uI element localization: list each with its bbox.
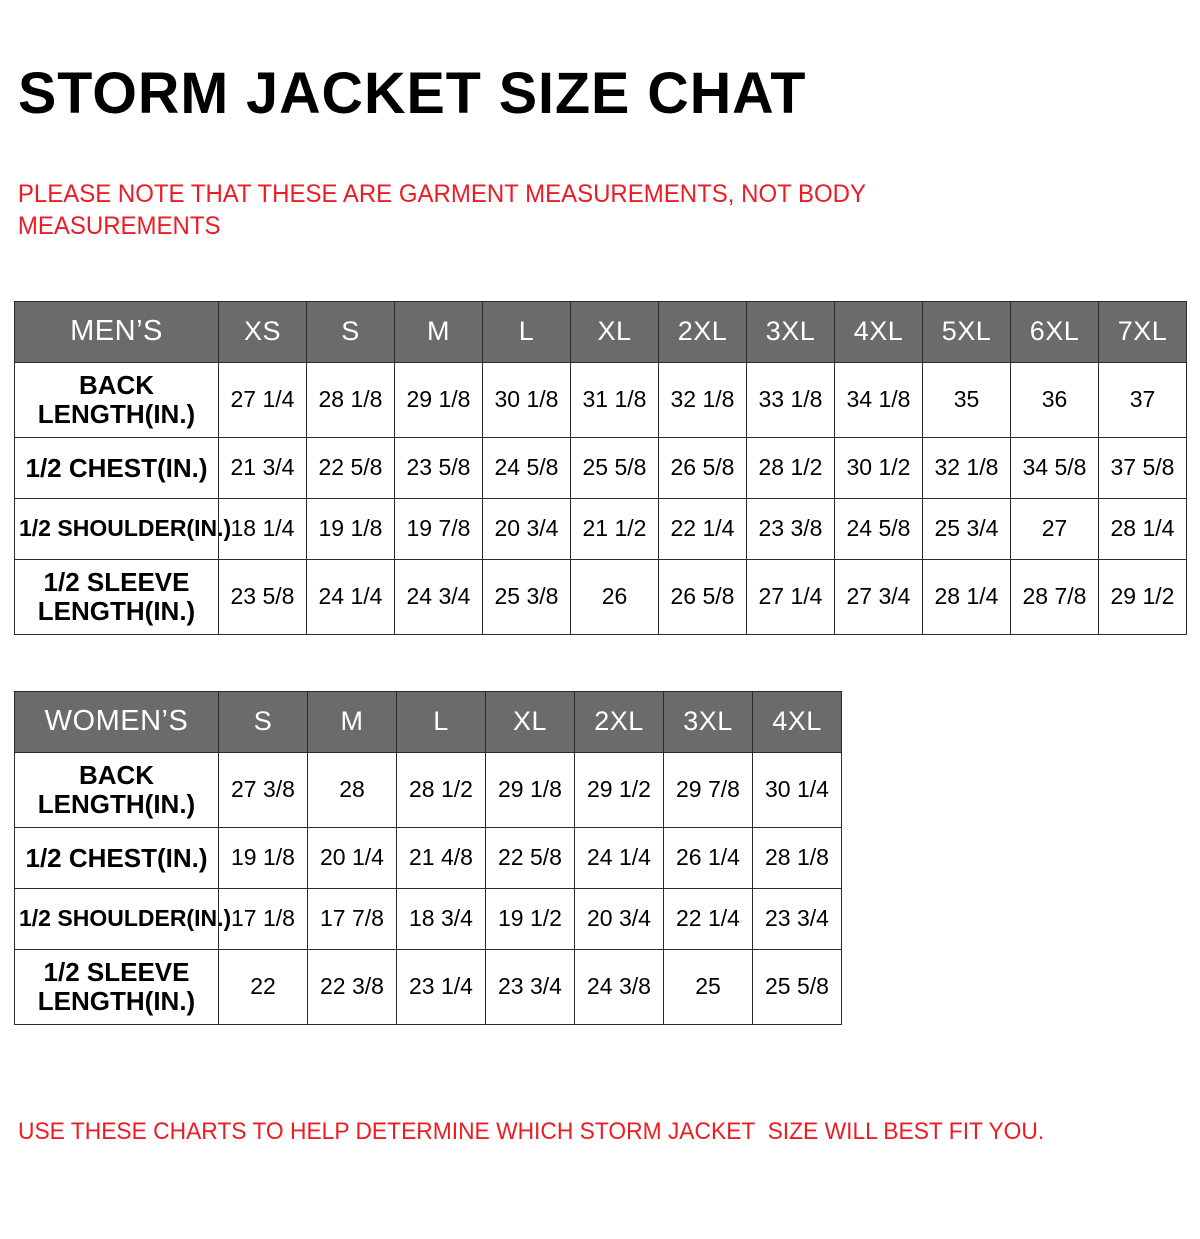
womens-back-length-3xl: 29 7/8 — [664, 752, 753, 827]
womens-size-header-m: M — [308, 691, 397, 752]
womens-sleeve-4xl: 25 5/8 — [753, 949, 842, 1024]
label-line-2: LENGTH(IN.) — [38, 986, 195, 1016]
mens-shoulder-3xl: 23 3/8 — [747, 498, 835, 559]
mens-size-header-2xl: 2XL — [659, 301, 747, 362]
womens-sleeve-m: 22 3/8 — [308, 949, 397, 1024]
womens-back-length-l: 28 1/2 — [397, 752, 486, 827]
mens-sleeve-xl: 26 — [571, 559, 659, 634]
womens-table-head: WOMEN’S S M L XL 2XL 3XL 4XL — [15, 691, 842, 752]
mens-sleeve-m: 24 3/4 — [395, 559, 483, 634]
mens-shoulder-s: 19 1/8 — [307, 498, 395, 559]
womens-back-length-2xl: 29 1/2 — [575, 752, 664, 827]
mens-chest-xl: 25 5/8 — [571, 437, 659, 498]
mens-back-length-xs: 27 1/4 — [219, 362, 307, 437]
womens-back-length-4xl: 30 1/4 — [753, 752, 842, 827]
womens-header-row: WOMEN’S S M L XL 2XL 3XL 4XL — [15, 691, 842, 752]
womens-size-header-l: L — [397, 691, 486, 752]
mens-sleeve-5xl: 28 1/4 — [923, 559, 1011, 634]
mens-size-header-6xl: 6XL — [1011, 301, 1099, 362]
mens-back-length-s: 28 1/8 — [307, 362, 395, 437]
mens-back-length-5xl: 35 — [923, 362, 1011, 437]
table-row: 1/2 SLEEVELENGTH(IN.) 23 5/8 24 1/4 24 3… — [15, 559, 1187, 634]
mens-chest-2xl: 26 5/8 — [659, 437, 747, 498]
mens-chest-6xl: 34 5/8 — [1011, 437, 1099, 498]
mens-table-head: MEN’S XS S M L XL 2XL 3XL 4XL 5XL 6XL 7X… — [15, 301, 1187, 362]
table-row: 1/2 SHOULDER(IN.) 18 1/4 19 1/8 19 7/8 2… — [15, 498, 1187, 559]
womens-shoulder-3xl: 22 1/4 — [664, 888, 753, 949]
mens-size-header-m: M — [395, 301, 483, 362]
womens-sleeve-2xl: 24 3/8 — [575, 949, 664, 1024]
womens-shoulder-l: 18 3/4 — [397, 888, 486, 949]
mens-shoulder-5xl: 25 3/4 — [923, 498, 1011, 559]
womens-chest-m: 20 1/4 — [308, 827, 397, 888]
label-line-1: 1/2 SLEEVE — [44, 957, 190, 987]
page-title: STORM JACKET SIZE CHAT — [14, 39, 1174, 123]
size-chart-page: STORM JACKET SIZE CHAT PLEASE NOTE THAT … — [0, 39, 1200, 1239]
mens-shoulder-xs: 18 1/4 — [219, 498, 307, 559]
womens-sleeve-3xl: 25 — [664, 949, 753, 1024]
mens-shoulder-2xl: 22 1/4 — [659, 498, 747, 559]
garment-measurement-note: PLEASE NOTE THAT THESE ARE GARMENT MEASU… — [14, 162, 939, 243]
mens-row-label-sleeve-length: 1/2 SLEEVELENGTH(IN.) — [15, 559, 219, 634]
womens-corner-header: WOMEN’S — [15, 691, 219, 752]
mens-size-header-3xl: 3XL — [747, 301, 835, 362]
womens-shoulder-m: 17 7/8 — [308, 888, 397, 949]
womens-sleeve-s: 22 — [219, 949, 308, 1024]
womens-shoulder-xl: 19 1/2 — [486, 888, 575, 949]
label-line-1: BACK — [79, 760, 154, 790]
table-row: BACKLENGTH(IN.) 27 3/8 28 28 1/2 29 1/8 … — [15, 752, 842, 827]
label-line-2: LENGTH(IN.) — [38, 596, 195, 626]
mens-sleeve-6xl: 28 7/8 — [1011, 559, 1099, 634]
mens-chest-s: 22 5/8 — [307, 437, 395, 498]
mens-back-length-2xl: 32 1/8 — [659, 362, 747, 437]
mens-back-length-l: 30 1/8 — [483, 362, 571, 437]
womens-size-header-2xl: 2XL — [575, 691, 664, 752]
mens-back-length-xl: 31 1/8 — [571, 362, 659, 437]
table-row: 1/2 CHEST(IN.) 19 1/8 20 1/4 21 4/8 22 5… — [15, 827, 842, 888]
mens-header-row: MEN’S XS S M L XL 2XL 3XL 4XL 5XL 6XL 7X… — [15, 301, 1187, 362]
mens-back-length-m: 29 1/8 — [395, 362, 483, 437]
mens-row-label-back-length: BACKLENGTH(IN.) — [15, 362, 219, 437]
mens-sleeve-s: 24 1/4 — [307, 559, 395, 634]
table-row: BACKLENGTH(IN.) 27 1/4 28 1/8 29 1/8 30 … — [15, 362, 1187, 437]
womens-row-label-sleeve-length: 1/2 SLEEVELENGTH(IN.) — [15, 949, 219, 1024]
mens-sleeve-2xl: 26 5/8 — [659, 559, 747, 634]
mens-row-label-shoulder: 1/2 SHOULDER(IN.) — [15, 498, 219, 559]
mens-chest-l: 24 5/8 — [483, 437, 571, 498]
mens-chest-3xl: 28 1/2 — [747, 437, 835, 498]
mens-back-length-6xl: 36 — [1011, 362, 1099, 437]
mens-sleeve-l: 25 3/8 — [483, 559, 571, 634]
womens-back-length-s: 27 3/8 — [219, 752, 308, 827]
mens-size-header-4xl: 4XL — [835, 301, 923, 362]
mens-shoulder-7xl: 28 1/4 — [1099, 498, 1187, 559]
mens-chest-xs: 21 3/4 — [219, 437, 307, 498]
mens-chest-4xl: 30 1/2 — [835, 437, 923, 498]
label-line-2: LENGTH(IN.) — [38, 399, 195, 429]
mens-shoulder-4xl: 24 5/8 — [835, 498, 923, 559]
mens-size-table: MEN’S XS S M L XL 2XL 3XL 4XL 5XL 6XL 7X… — [14, 301, 1187, 635]
womens-chest-l: 21 4/8 — [397, 827, 486, 888]
womens-back-length-xl: 29 1/8 — [486, 752, 575, 827]
womens-shoulder-s: 17 1/8 — [219, 888, 308, 949]
womens-size-header-s: S — [219, 691, 308, 752]
mens-shoulder-6xl: 27 — [1011, 498, 1099, 559]
mens-size-header-7xl: 7XL — [1099, 301, 1187, 362]
mens-size-header-xs: XS — [219, 301, 307, 362]
womens-back-length-m: 28 — [308, 752, 397, 827]
label-line-2: LENGTH(IN.) — [38, 789, 195, 819]
womens-size-header-4xl: 4XL — [753, 691, 842, 752]
fit-guidance-note: USE THESE CHARTS TO HELP DETERMINE WHICH… — [18, 1118, 1044, 1146]
womens-sleeve-l: 23 1/4 — [397, 949, 486, 1024]
mens-row-label-chest: 1/2 CHEST(IN.) — [15, 437, 219, 498]
mens-sleeve-7xl: 29 1/2 — [1099, 559, 1187, 634]
mens-sleeve-4xl: 27 3/4 — [835, 559, 923, 634]
mens-size-header-s: S — [307, 301, 395, 362]
mens-corner-header: MEN’S — [15, 301, 219, 362]
womens-table-body: BACKLENGTH(IN.) 27 3/8 28 28 1/2 29 1/8 … — [15, 752, 842, 1024]
label-line-1: BACK — [79, 370, 154, 400]
mens-chest-5xl: 32 1/8 — [923, 437, 1011, 498]
womens-chest-2xl: 24 1/4 — [575, 827, 664, 888]
womens-sleeve-xl: 23 3/4 — [486, 949, 575, 1024]
mens-sleeve-3xl: 27 1/4 — [747, 559, 835, 634]
womens-chest-xl: 22 5/8 — [486, 827, 575, 888]
womens-size-header-xl: XL — [486, 691, 575, 752]
mens-shoulder-m: 19 7/8 — [395, 498, 483, 559]
mens-size-header-5xl: 5XL — [923, 301, 1011, 362]
mens-table-body: BACKLENGTH(IN.) 27 1/4 28 1/8 29 1/8 30 … — [15, 362, 1187, 634]
womens-row-label-shoulder: 1/2 SHOULDER(IN.) — [15, 888, 219, 949]
womens-size-header-3xl: 3XL — [664, 691, 753, 752]
mens-size-header-l: L — [483, 301, 571, 362]
mens-chest-7xl: 37 5/8 — [1099, 437, 1187, 498]
mens-back-length-7xl: 37 — [1099, 362, 1187, 437]
womens-row-label-chest: 1/2 CHEST(IN.) — [15, 827, 219, 888]
womens-row-label-back-length: BACKLENGTH(IN.) — [15, 752, 219, 827]
womens-chest-3xl: 26 1/4 — [664, 827, 753, 888]
table-row: 1/2 CHEST(IN.) 21 3/4 22 5/8 23 5/8 24 5… — [15, 437, 1187, 498]
womens-chest-4xl: 28 1/8 — [753, 827, 842, 888]
mens-chest-m: 23 5/8 — [395, 437, 483, 498]
label-line-1: 1/2 SLEEVE — [44, 567, 190, 597]
womens-shoulder-2xl: 20 3/4 — [575, 888, 664, 949]
womens-chest-s: 19 1/8 — [219, 827, 308, 888]
womens-shoulder-4xl: 23 3/4 — [753, 888, 842, 949]
mens-size-header-xl: XL — [571, 301, 659, 362]
table-row: 1/2 SLEEVELENGTH(IN.) 22 22 3/8 23 1/4 2… — [15, 949, 842, 1024]
mens-shoulder-l: 20 3/4 — [483, 498, 571, 559]
mens-sleeve-xs: 23 5/8 — [219, 559, 307, 634]
womens-size-table: WOMEN’S S M L XL 2XL 3XL 4XL BACKLENGTH(… — [14, 691, 842, 1025]
table-row: 1/2 SHOULDER(IN.) 17 1/8 17 7/8 18 3/4 1… — [15, 888, 842, 949]
mens-shoulder-xl: 21 1/2 — [571, 498, 659, 559]
mens-back-length-3xl: 33 1/8 — [747, 362, 835, 437]
mens-back-length-4xl: 34 1/8 — [835, 362, 923, 437]
